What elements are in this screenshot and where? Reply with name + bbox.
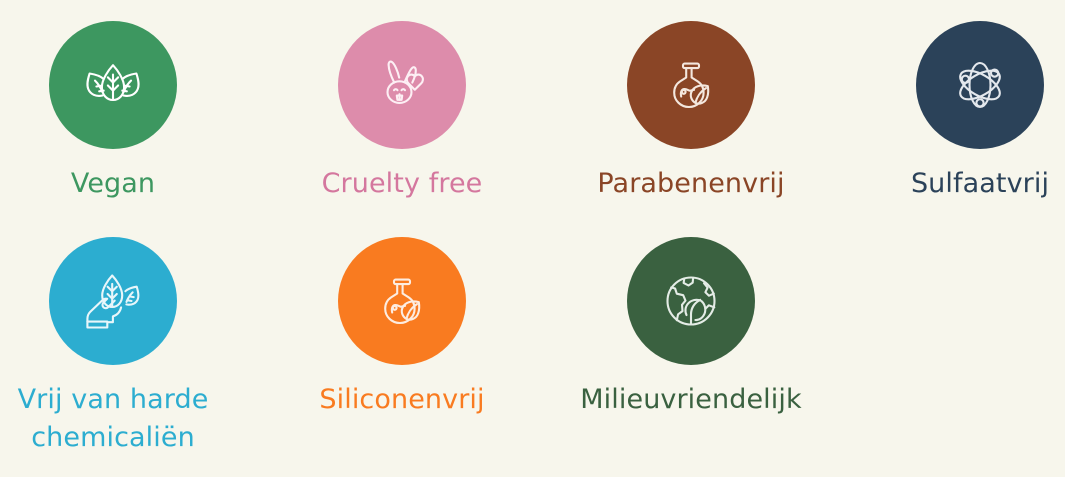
badge-grid: Vegan Cruelty free bbox=[0, 0, 1065, 477]
badge-siliconenvrij-circle bbox=[338, 237, 466, 365]
badge-milieuvriendelijk[interactable]: Milieuvriendelijk bbox=[576, 237, 806, 419]
badge-vegan-circle bbox=[49, 21, 177, 149]
badge-sulfaatvrij-label: Sulfaatvrij bbox=[865, 165, 1065, 203]
badge-siliconenvrij-label: Siliconenvrij bbox=[287, 381, 517, 419]
hand-leaf-icon bbox=[81, 269, 145, 333]
flask-leaf-icon bbox=[370, 269, 434, 333]
badge-sulfaatvrij-circle bbox=[916, 21, 1044, 149]
badge-parabenenvrij[interactable]: Parabenenvrij bbox=[576, 21, 806, 203]
badge-vegan[interactable]: Vegan bbox=[0, 21, 228, 203]
atom-icon bbox=[948, 53, 1012, 117]
globe-leaf-icon bbox=[659, 269, 723, 333]
flask-leaf-icon bbox=[659, 53, 723, 117]
badge-sulfaatvrij[interactable]: Sulfaatvrij bbox=[865, 21, 1065, 203]
badge-milieuvriendelijk-circle bbox=[627, 237, 755, 365]
badge-cruelty-free-circle bbox=[338, 21, 466, 149]
badge-vegan-label: Vegan bbox=[0, 165, 228, 203]
badge-parabenenvrij-label: Parabenenvrij bbox=[576, 165, 806, 203]
bunny-heart-icon bbox=[370, 53, 434, 117]
badge-vrij-van-harde-chemicalien-label: Vrij van harde chemicaliën bbox=[0, 381, 228, 457]
badge-vrij-van-harde-chemicalien-circle bbox=[49, 237, 177, 365]
three-leaves-icon bbox=[81, 53, 145, 117]
badge-cruelty-free[interactable]: Cruelty free bbox=[287, 21, 517, 203]
badge-milieuvriendelijk-label: Milieuvriendelijk bbox=[576, 381, 806, 419]
badge-parabenenvrij-circle bbox=[627, 21, 755, 149]
badge-siliconenvrij[interactable]: Siliconenvrij bbox=[287, 237, 517, 419]
badge-cruelty-free-label: Cruelty free bbox=[287, 165, 517, 203]
badge-vrij-van-harde-chemicalien[interactable]: Vrij van harde chemicaliën bbox=[0, 237, 228, 457]
